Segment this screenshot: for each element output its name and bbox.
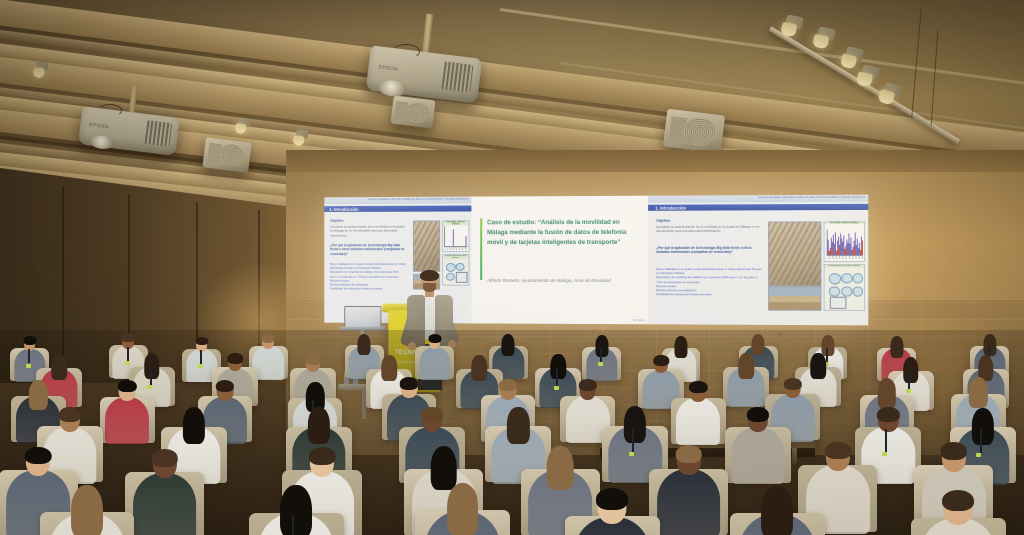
- audience-member: [419, 335, 450, 383]
- audience-hair: [747, 407, 769, 422]
- audience-member: [676, 382, 720, 449]
- projector-cable-1: [392, 44, 420, 59]
- spotlight-11: [295, 129, 308, 140]
- audience-hair: [689, 381, 707, 393]
- speaker-cone: [218, 143, 246, 168]
- slide-right-chart-bars: [827, 230, 863, 255]
- presentation-title: Caso de estudio: “Análisis de la movilid…: [487, 218, 628, 248]
- slide-right-chart: Movilidad software Málaga: [824, 221, 865, 262]
- audience-hair: [428, 334, 441, 343]
- presenter-laptop[interactable]: [340, 306, 385, 332]
- audience-hair: [400, 377, 418, 389]
- slide-left-topbar: Jornada: Movilidad y Big Data. Análisis …: [324, 197, 471, 205]
- audience-member: [586, 336, 617, 384]
- audience-hair: [507, 407, 529, 444]
- audience-hair: [421, 407, 443, 422]
- audience-hair: [52, 355, 67, 381]
- audience-member: [728, 354, 765, 410]
- slide-right-coast-image: [768, 286, 822, 311]
- audience-badge: [26, 364, 31, 368]
- projector-brand-label-2: EPSON: [89, 122, 109, 130]
- speaker-cone-2: [405, 101, 430, 124]
- audience-lanyard: [556, 369, 558, 386]
- audience-hair: [118, 380, 136, 392]
- audience-hair: [71, 485, 103, 535]
- slide-right-bullets: Mayor fiabilidad en el reparto modal (Mo…: [656, 267, 764, 297]
- audience-hair: [25, 447, 52, 465]
- slide-right-chart-title: Movilidad software Málaga: [825, 222, 864, 224]
- audience-lanyard: [200, 350, 202, 364]
- audience-hair: [502, 334, 515, 356]
- audience-member: [133, 450, 197, 535]
- audience-member: [258, 486, 335, 535]
- audience-hair: [624, 406, 646, 443]
- slide-left-bullet-0: Mayor fiabilidad en el reparto modal (Mo…: [330, 262, 407, 270]
- audience-member: [920, 491, 997, 535]
- presenter-hair: [420, 270, 439, 281]
- title-accent-bar: [480, 218, 482, 279]
- ceiling-soffit: [286, 150, 1024, 172]
- audience-lanyard: [632, 428, 634, 452]
- audience-hair: [381, 355, 396, 381]
- audience-hair: [499, 379, 517, 391]
- audience-hair: [674, 336, 687, 358]
- audience-hair: [151, 449, 178, 467]
- audience-hair: [29, 380, 47, 411]
- audience-badge: [554, 386, 559, 390]
- spotlight-10: [237, 117, 250, 128]
- slide-right-topbar: Jornada: Movilidad y Big Data. Análisis …: [648, 195, 868, 203]
- audience-member: [657, 446, 721, 535]
- audience-hair: [784, 378, 802, 390]
- projector-cable-2: [98, 104, 122, 117]
- audience-hair: [122, 333, 135, 342]
- slide-left-section-header: 1. Introducción: [329, 207, 359, 212]
- audience-hair: [941, 442, 968, 460]
- audience-hair: [305, 354, 320, 364]
- ceiling-speaker-3: [663, 109, 725, 154]
- audience-hair: [739, 353, 754, 379]
- audience-hair: [307, 407, 329, 444]
- audience-member: [574, 489, 651, 535]
- audience-torso: [731, 427, 784, 484]
- slide-center-badge: TECNALIA: [632, 319, 645, 322]
- audience-hair: [183, 407, 205, 444]
- slide-left-chart-bars: [445, 227, 468, 246]
- audience-torso: [419, 347, 450, 380]
- audience-hair: [761, 486, 793, 535]
- slide-right-map: Desplazamientos entre distritos: [824, 264, 865, 311]
- projector-vent: [441, 62, 473, 93]
- speaker-cone-3: [683, 116, 718, 147]
- slide-left-question: ¿Por qué la aplicación de la tecnología …: [330, 243, 405, 256]
- audience-hair: [195, 337, 208, 346]
- spotlight-2: [817, 26, 836, 41]
- audience-hair: [59, 407, 81, 422]
- slide-right-map-title: Desplazamientos entre distritos: [825, 265, 864, 267]
- slide-left-bullet-4: Posibilidad de seleccionar fechas concre…: [330, 287, 407, 291]
- slide-right-question: ¿Por qué la aplicación de la tecnología …: [656, 246, 762, 255]
- audience-hair: [878, 378, 896, 409]
- audience-member: [49, 486, 126, 535]
- conference-room-photo: EPSON EPSON: [0, 0, 1024, 535]
- slide-right-objective-label: Objetivo: [656, 219, 670, 223]
- audience-torso: [676, 398, 720, 445]
- slide-left-header-banner: Jornada: Movilidad y Big Data. Análisis …: [368, 197, 469, 200]
- audience-member: [105, 381, 149, 448]
- audience-hair: [972, 408, 994, 445]
- presenter-beard: [423, 283, 436, 292]
- audience-hair: [969, 377, 987, 408]
- audience-lanyard: [885, 429, 887, 453]
- audience-torso: [133, 473, 197, 535]
- slide-left-chart: Movilidad software Málaga: [442, 220, 469, 252]
- slide-right-section-header: 1. Introducción: [655, 205, 686, 210]
- audience-member: [424, 484, 501, 535]
- audience-lanyard: [127, 347, 129, 361]
- spotlight-12: [36, 61, 49, 71]
- presentation-subtitle: Alberto Romero, Ayuntamiento de Málaga, …: [487, 278, 628, 285]
- audience-hair: [752, 334, 765, 356]
- audience-badge: [125, 361, 130, 365]
- slide-right-objective-text: Actualizar la caracterización de la movi…: [656, 225, 762, 234]
- audience-hair: [810, 353, 825, 379]
- audience-hair: [227, 353, 242, 363]
- audience-hair: [144, 353, 159, 379]
- audience-hair: [942, 490, 974, 511]
- projector-vent-2: [144, 120, 172, 146]
- audience-hair: [596, 488, 628, 509]
- audience-hair: [216, 380, 234, 392]
- ceiling-speaker-2: [390, 96, 435, 129]
- slide-left-bullets: Mayor fiabilidad en el reparto modal (Mo…: [330, 262, 407, 291]
- slide-right-introduccion: Jornada: Movilidad y Big Data. Análisis …: [648, 195, 868, 326]
- audience-hair: [877, 407, 899, 422]
- audience-badge: [598, 362, 603, 366]
- slide-left-bullet-1: Disposición de muestras de análisis muy …: [330, 270, 407, 278]
- slide-left-objective-label: Objetivo: [330, 219, 343, 223]
- audience-lanyard: [150, 368, 152, 385]
- audience-hair: [890, 336, 903, 358]
- audience-hair: [309, 447, 336, 465]
- audience-hair: [262, 334, 275, 343]
- audience-member: [739, 487, 816, 535]
- slide-right-bullet-0: Mayor fiabilidad en el reparto modal (Mo…: [656, 267, 764, 276]
- audience-hair: [547, 446, 574, 490]
- slide-left-chart-title: Movilidad software Málaga: [443, 221, 468, 225]
- audience-badge: [198, 364, 203, 368]
- slide-right-terrain-image: [768, 221, 822, 286]
- audience-lanyard: [28, 349, 30, 363]
- audience-torso: [105, 397, 149, 444]
- slide-right-header-banner: Jornada: Movilidad y Big Data. Análisis …: [758, 195, 865, 199]
- audience-hair: [447, 483, 479, 535]
- audience-hair: [550, 354, 565, 380]
- projector-brand-label: EPSON: [378, 64, 398, 72]
- slide-right-bullet-1: Disposición de muestras de análisis muy …: [656, 275, 764, 284]
- audience-lanyard: [600, 348, 602, 362]
- spotlight-1: [785, 14, 804, 29]
- audience-torso: [657, 469, 721, 535]
- ceiling-speaker-1: [202, 137, 251, 172]
- audience-lanyard: [292, 515, 294, 535]
- slide-right-bullet-4: Posibilidad de seleccionar fechas concre…: [656, 292, 764, 297]
- audience-hair: [653, 355, 668, 365]
- audience-hair: [23, 336, 36, 345]
- slide-center-title: Caso de estudio: “Análisis de la movilid…: [471, 196, 648, 325]
- audience-hair: [472, 355, 487, 381]
- audience-hair: [280, 485, 312, 535]
- audience-hair: [675, 445, 702, 463]
- audience-seating-area: [0, 330, 1024, 535]
- audience-hair: [825, 442, 852, 460]
- audience-member: [731, 408, 784, 489]
- slide-left-map-title: Desplazamientos entre distritos: [443, 255, 468, 259]
- laptop-screen: [344, 306, 381, 328]
- audience-badge: [629, 452, 634, 456]
- audience-badge: [882, 452, 887, 456]
- slide-left-objective-text: Actualizar la caracterización de la movi…: [330, 225, 405, 238]
- slide-left-terrain-image: [413, 220, 440, 271]
- audience-hair: [358, 334, 371, 356]
- audience-hair: [579, 379, 597, 391]
